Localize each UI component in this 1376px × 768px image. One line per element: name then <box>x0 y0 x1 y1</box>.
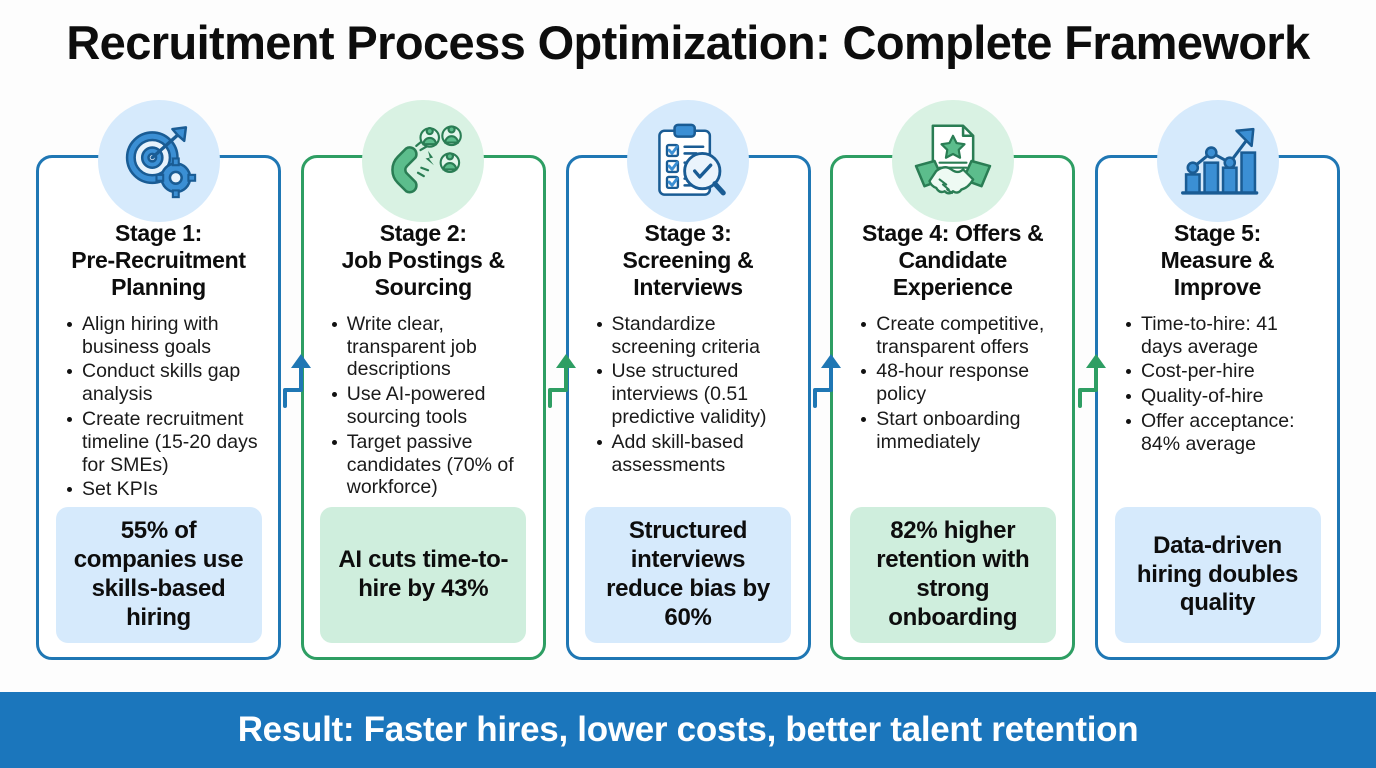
handshake-offer-document-icon <box>892 100 1014 222</box>
stage-bullet-list-3: Standardize screening criteriaUse struct… <box>579 313 798 507</box>
list-item: Offer acceptance: 84% average <box>1124 410 1323 456</box>
stage-card-3: Stage 3:Screening &InterviewsStandardize… <box>566 155 811 660</box>
stage-heading-3: Stage 3:Screening &Interviews <box>621 220 756 301</box>
list-item: Add skill-based assessments <box>595 431 794 477</box>
list-item: Quality-of-hire <box>1124 385 1323 408</box>
stat-highlight-3: Structured interviews reduce bias by 60% <box>585 507 791 643</box>
infographic-canvas: Recruitment Process Optimization: Comple… <box>0 0 1376 768</box>
stage-heading-2: Stage 2:Job Postings &Sourcing <box>340 220 507 301</box>
stat-highlight-2: AI cuts time-to-hire by 43% <box>320 507 526 643</box>
list-item: Create competitive, transparent offers <box>859 313 1058 359</box>
growth-bar-chart-arrow-icon <box>1157 100 1279 222</box>
stage-bullet-list-2: Write clear, transparent job description… <box>314 313 533 507</box>
list-item: Time-to-hire: 41 days average <box>1124 313 1323 359</box>
connector-arrow-3 <box>812 350 846 410</box>
list-item: Set KPIs <box>65 478 264 501</box>
stat-highlight-5: Data-driven hiring doubles quality <box>1115 507 1321 643</box>
list-item: Target passive candidates (70% of workfo… <box>330 431 529 499</box>
list-item: 48-hour response policy <box>859 360 1058 406</box>
list-item: Start onboarding immediately <box>859 408 1058 454</box>
stage-heading-5: Stage 5:Measure &Improve <box>1159 220 1277 301</box>
list-item: Use structured interviews (0.51 predicti… <box>595 360 794 428</box>
stage-bullet-list-4: Create competitive, transparent offers48… <box>843 313 1062 507</box>
stat-highlight-1: 55% of companies use skills-based hiring <box>56 507 262 643</box>
stage-card-1: Stage 1:Pre-RecruitmentPlanningAlign hir… <box>36 155 281 660</box>
connector-arrow-4 <box>1077 350 1111 410</box>
stat-highlight-4: 82% higher retention with strong onboard… <box>850 507 1056 643</box>
target-arrow-gear-icon <box>98 100 220 222</box>
stage-bullet-list-5: Time-to-hire: 41 days averageCost-per-hi… <box>1108 313 1327 507</box>
connector-arrow-2 <box>547 350 581 410</box>
clipboard-checklist-magnifier-icon <box>627 100 749 222</box>
stage-heading-1: Stage 1:Pre-RecruitmentPlanning <box>69 220 247 301</box>
stage-card-row: Stage 1:Pre-RecruitmentPlanningAlign hir… <box>36 155 1340 660</box>
stage-bullet-list-1: Align hiring with business goalsConduct … <box>49 313 268 507</box>
list-item: Create recruitment timeline (15-20 days … <box>65 408 264 476</box>
page-title: Recruitment Process Optimization: Comple… <box>0 16 1376 70</box>
stage-card-4: Stage 4: Offers &CandidateExperienceCrea… <box>830 155 1075 660</box>
list-item: Use AI-powered sourcing tools <box>330 383 529 429</box>
stage-card-5: Stage 5:Measure &ImproveTime-to-hire: 41… <box>1095 155 1340 660</box>
list-item: Write clear, transparent job description… <box>330 313 529 381</box>
stage-heading-4: Stage 4: Offers &CandidateExperience <box>860 220 1046 301</box>
list-item: Standardize screening criteria <box>595 313 794 359</box>
list-item: Cost-per-hire <box>1124 360 1323 383</box>
magnet-candidates-icon <box>362 100 484 222</box>
list-item: Align hiring with business goals <box>65 313 264 359</box>
footer-result-text: Result: Faster hires, lower costs, bette… <box>238 710 1139 750</box>
list-item: Conduct skills gap analysis <box>65 360 264 406</box>
stage-card-2: Stage 2:Job Postings &SourcingWrite clea… <box>301 155 546 660</box>
connector-arrow-1 <box>282 350 316 410</box>
footer-banner: Result: Faster hires, lower costs, bette… <box>0 692 1376 768</box>
